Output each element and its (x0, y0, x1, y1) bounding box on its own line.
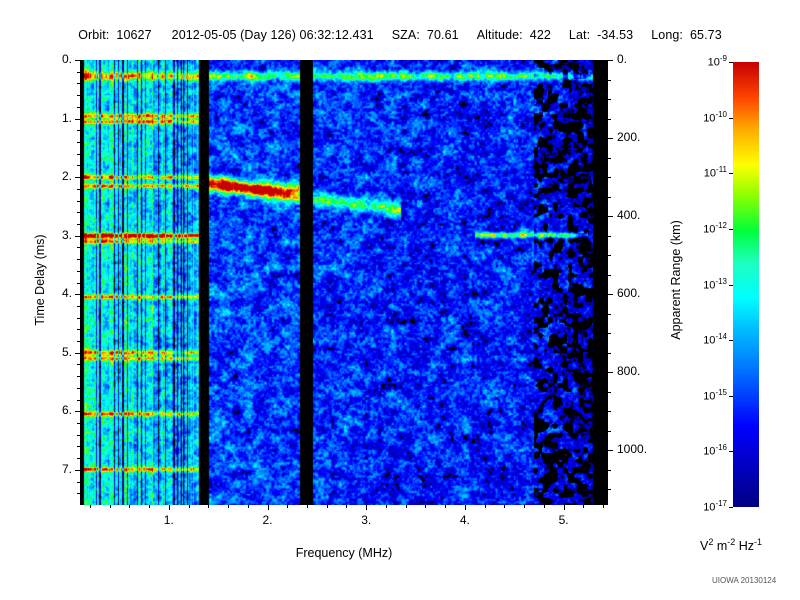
colorbar-tick (729, 507, 733, 508)
colorbar-tick-label: 10-15 (693, 388, 727, 403)
colorbar-tick (729, 62, 733, 63)
y2-tick-label: 600. (617, 286, 663, 300)
x-minor-tick (524, 505, 525, 508)
x-minor-tick (129, 505, 130, 508)
y-tick (75, 177, 80, 178)
altitude-value: 422 (530, 28, 551, 42)
long-value: 65.73 (690, 28, 722, 42)
x-axis-title: Frequency (MHz) (80, 546, 608, 560)
y-minor-tick (77, 130, 80, 131)
long-label: Long: (651, 28, 683, 42)
y2-minor-tick (608, 489, 611, 490)
y-minor-tick (77, 154, 80, 155)
y2-tick (608, 372, 613, 373)
colorbar-tick (729, 340, 733, 341)
y-tick (75, 470, 80, 471)
colorbar-tick-label: 10-13 (693, 277, 727, 292)
y-minor-tick (77, 493, 80, 494)
y-tick-label: 0. (38, 52, 72, 66)
y-axis-title: Time Delay (ms) (33, 200, 47, 360)
y-tick-label: 2. (38, 169, 72, 183)
y-minor-tick (77, 142, 80, 143)
y-minor-tick (77, 283, 80, 284)
y2-tick (608, 294, 613, 295)
y2-minor-tick (608, 99, 611, 100)
y-minor-tick (77, 189, 80, 190)
y-minor-tick (77, 259, 80, 260)
metadata-header: Orbit:106272012-05-05 (Day 126) 06:32:12… (0, 28, 800, 42)
colorbar-tick (729, 396, 733, 397)
y2-minor-tick (608, 236, 611, 237)
y2-tick (608, 450, 613, 451)
colorbar-tick-label: 10-17 (693, 499, 727, 514)
x-minor-tick (386, 505, 387, 508)
y-minor-tick (77, 224, 80, 225)
y-minor-tick (77, 201, 80, 202)
y2-minor-tick (608, 411, 611, 412)
y2-tick (608, 216, 613, 217)
y-minor-tick (77, 247, 80, 248)
y-minor-tick (77, 446, 80, 447)
x-tick-label: 4. (445, 513, 485, 527)
y2-tick (608, 138, 613, 139)
x-minor-tick (445, 505, 446, 508)
y-minor-tick (77, 400, 80, 401)
colorbar-tick (729, 229, 733, 230)
y-minor-tick (77, 107, 80, 108)
colorbar-tick-label: 10-14 (693, 332, 727, 347)
spectrogram-plot-area (80, 60, 608, 505)
y2-tick (608, 60, 613, 61)
y2-tick-label: 200. (617, 130, 663, 144)
y2-minor-tick (608, 314, 611, 315)
y-minor-tick (77, 364, 80, 365)
colorbar-tick-label: 10-11 (693, 165, 727, 180)
y2-minor-tick (608, 197, 611, 198)
x-tick (366, 505, 367, 510)
lat-label: Lat: (569, 28, 590, 42)
y2-minor-tick (608, 470, 611, 471)
datetime-value: 2012-05-05 (Day 126) 06:32:12.431 (172, 28, 374, 42)
x-minor-tick (149, 505, 150, 508)
y2-minor-tick (608, 255, 611, 256)
y-minor-tick (77, 212, 80, 213)
altitude-label: Altitude: (477, 28, 523, 42)
x-minor-tick (583, 505, 584, 508)
colorbar-canvas (733, 62, 759, 507)
y2-minor-tick (608, 392, 611, 393)
y-minor-tick (77, 341, 80, 342)
y-minor-tick (77, 376, 80, 377)
y-minor-tick (77, 482, 80, 483)
y-tick (75, 411, 80, 412)
x-minor-tick (307, 505, 308, 508)
colorbar (733, 62, 759, 507)
sza-value: 70.61 (427, 28, 459, 42)
y-tick-label: 1. (38, 111, 72, 125)
y-minor-tick (77, 83, 80, 84)
y2-axis-title: Apparent Range (km) (669, 190, 683, 370)
x-tick-label: 5. (544, 513, 584, 527)
y-tick (75, 119, 80, 120)
orbit-label: Orbit: (78, 28, 109, 42)
x-minor-tick (406, 505, 407, 508)
y-tick (75, 294, 80, 295)
x-minor-tick (544, 505, 545, 508)
x-minor-tick (90, 505, 91, 508)
y-minor-tick (77, 458, 80, 459)
y-minor-tick (77, 271, 80, 272)
y2-minor-tick (608, 158, 611, 159)
x-minor-tick (248, 505, 249, 508)
colorbar-tick (729, 285, 733, 286)
colorbar-tick-label: 10-16 (693, 443, 727, 458)
x-minor-tick (346, 505, 347, 508)
colorbar-tick (729, 451, 733, 452)
sza-label: SZA: (392, 28, 420, 42)
colorbar-unit-label: V2 m-2 Hz-1 (700, 537, 762, 553)
y-tick (75, 353, 80, 354)
y-minor-tick (77, 435, 80, 436)
x-tick-label: 3. (346, 513, 386, 527)
colorbar-tick-label: 10-9 (693, 54, 727, 69)
y2-minor-tick (608, 177, 611, 178)
orbit-value: 10627 (116, 28, 151, 42)
x-tick-label: 2. (248, 513, 288, 527)
y-minor-tick (77, 318, 80, 319)
y2-minor-tick (608, 353, 611, 354)
x-minor-tick (327, 505, 328, 508)
y-minor-tick (77, 72, 80, 73)
colorbar-tick (729, 173, 733, 174)
y2-minor-tick (608, 119, 611, 120)
x-minor-tick (425, 505, 426, 508)
x-tick-label: 1. (149, 513, 189, 527)
y-minor-tick (77, 165, 80, 166)
y-minor-tick (77, 423, 80, 424)
y-tick (75, 236, 80, 237)
x-minor-tick (208, 505, 209, 508)
y2-minor-tick (608, 80, 611, 81)
x-tick (268, 505, 269, 510)
x-minor-tick (228, 505, 229, 508)
colorbar-tick-label: 10-12 (693, 221, 727, 236)
y2-minor-tick (608, 333, 611, 334)
y-minor-tick (77, 306, 80, 307)
y2-tick-label: 1000. (617, 442, 663, 456)
ionogram-figure: Orbit:106272012-05-05 (Day 126) 06:32:12… (0, 0, 800, 600)
y2-tick-label: 400. (617, 208, 663, 222)
lat-value: -34.53 (597, 28, 633, 42)
y-minor-tick (77, 329, 80, 330)
x-minor-tick (110, 505, 111, 508)
spectrogram-canvas (80, 60, 608, 505)
x-tick (564, 505, 565, 510)
x-minor-tick (189, 505, 190, 508)
y-tick-label: 7. (38, 462, 72, 476)
y2-tick-label: 0. (617, 52, 663, 66)
y-minor-tick (77, 95, 80, 96)
x-minor-tick (287, 505, 288, 508)
colorbar-tick-label: 10-10 (693, 110, 727, 125)
y2-minor-tick (608, 431, 611, 432)
x-minor-tick (504, 505, 505, 508)
y-minor-tick (77, 388, 80, 389)
x-minor-tick (603, 505, 604, 508)
y-tick (75, 60, 80, 61)
x-tick (169, 505, 170, 510)
y2-minor-tick (608, 275, 611, 276)
y2-tick-label: 800. (617, 364, 663, 378)
x-tick (465, 505, 466, 510)
credit-label: UIOWA 20130124 (712, 576, 776, 585)
x-minor-tick (485, 505, 486, 508)
colorbar-tick (729, 118, 733, 119)
y-tick-label: 6. (38, 403, 72, 417)
